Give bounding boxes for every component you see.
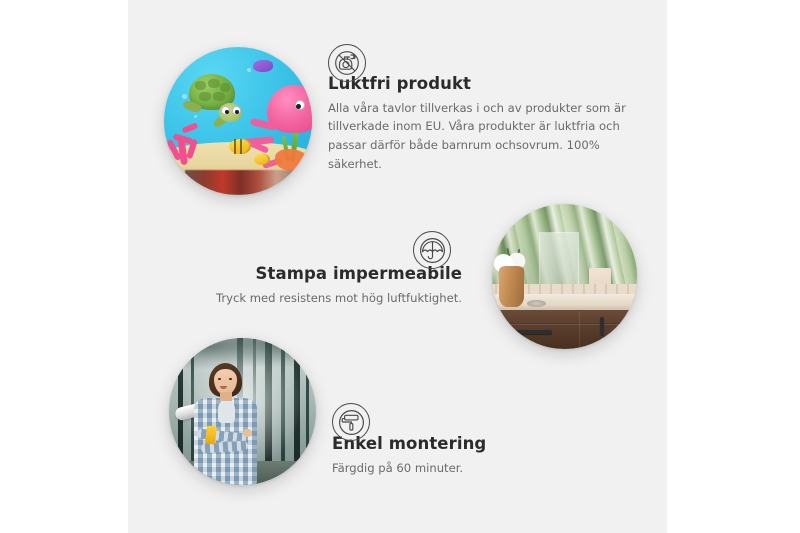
feature-text-odourless: Luktfri produkt Alla våra tavlor tillver…: [328, 74, 633, 174]
shell-scute: [208, 79, 220, 88]
neck: [220, 392, 232, 401]
foreground-objects: [185, 170, 297, 195]
octopus-pupil: [296, 104, 301, 109]
purple-fish: [253, 60, 273, 72]
feature-text-waterproof: Stampa impermeabile Tryck med resistens …: [128, 264, 462, 307]
eye: [218, 378, 221, 380]
shell-scute: [213, 92, 225, 101]
turtle-pupil: [225, 110, 229, 114]
shell-scute: [220, 83, 230, 92]
vase: [499, 266, 524, 307]
bubble-icon: [247, 68, 251, 72]
drawer-divider: [495, 323, 637, 325]
shell-scute: [195, 81, 206, 90]
hand: [243, 429, 252, 437]
eye: [229, 378, 232, 380]
umbrella-icon: [413, 231, 451, 269]
soap-dish: [527, 300, 546, 307]
fish-stripe: [240, 139, 242, 154]
wooden-vanity: [495, 310, 637, 349]
shell-scute: [199, 92, 211, 101]
feature-title: Luktfri produkt: [328, 74, 633, 95]
yellow-fish: [229, 139, 251, 154]
fish-stripe: [234, 139, 236, 154]
feature-description: Alla våra tavlor tillverkas i och av pro…: [328, 99, 633, 174]
turtle-pupil: [235, 110, 239, 114]
bubble-icon: [194, 115, 197, 118]
feature-title: Enkel montering: [332, 434, 632, 455]
starfish: [275, 149, 309, 171]
bathroom-interior-photo[interactable]: [492, 204, 637, 349]
paint-roller-icon: [332, 403, 370, 441]
content-panel: Luktfri produkt Alla våra tavlor tillver…: [128, 0, 667, 533]
inner-tshirt: [218, 400, 236, 424]
feature-description: Färgdig på 60 minuter.: [332, 459, 632, 478]
feature-title: Stampa impermeabile: [128, 264, 462, 285]
feature-text-easy-assembly: Enkel montering Färgdig på 60 minuter.: [332, 434, 632, 477]
cabinet-divider: [579, 310, 580, 349]
screenshot-root: Luktfri produkt Alla våra tavlor tillver…: [0, 0, 800, 533]
forest-mural-scene: [169, 338, 316, 485]
woman-with-roller-photo[interactable]: [169, 338, 316, 485]
paint-tool: [205, 426, 217, 445]
cabinet-handle[interactable]: [600, 317, 604, 335]
no-perfume-icon: [328, 44, 366, 82]
drawer-handle[interactable]: [513, 330, 552, 334]
bathroom-scene: [492, 204, 637, 349]
feature-description: Tryck med resistens mot hög luftfuktighe…: [128, 289, 462, 308]
underwater-scene: [164, 47, 312, 195]
underwater-cartoon-photo[interactable]: [164, 47, 312, 195]
yellow-fish: [254, 154, 270, 165]
